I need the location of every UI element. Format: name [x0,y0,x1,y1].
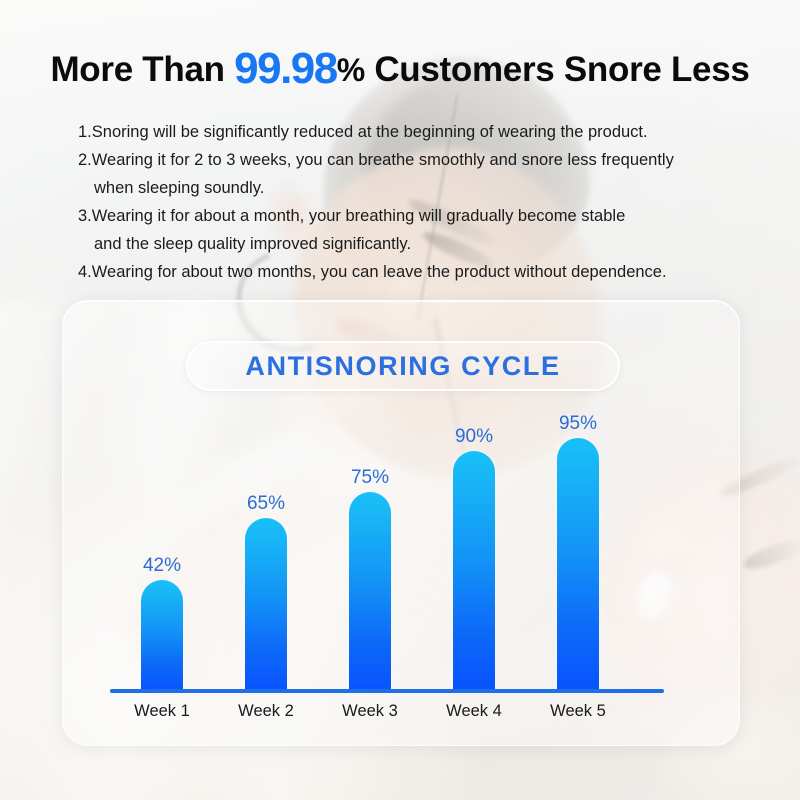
bar [557,438,599,692]
page-title: More Than 99.98% Customers Snore Less [0,44,800,94]
bar [245,518,287,692]
chart-title-pill: ANTISNORING CYCLE [186,341,620,391]
list-item: 1.Snoring will be significantly reduced … [78,118,758,146]
bar-value-label: 90% [455,427,493,446]
chart-x-axis-labels: Week 1Week 2Week 3Week 4Week 5 [110,702,664,721]
chart-plot-area: 42%65%75%90%95% [110,400,664,692]
chart-title: ANTISNORING CYCLE [245,351,560,382]
list-item: 3.Wearing it for about a month, your bre… [78,202,758,230]
bar-group-1: 42% [110,400,214,692]
list-item: 4.Wearing for about two months, you can … [78,258,758,286]
bar [453,451,495,692]
x-axis-label: Week 4 [422,702,526,721]
bar [141,580,183,692]
headline-prefix: More Than [50,50,234,89]
headline-highlight-value: 99.98 [234,44,337,93]
bar-group-4: 90% [422,400,526,692]
bar-group-3: 75% [318,400,422,692]
x-axis-label: Week 5 [526,702,630,721]
antisnoring-cycle-chart: 42%65%75%90%95% Week 1Week 2Week 3Week 4… [110,400,670,730]
bar-group-2: 65% [214,400,318,692]
bar-value-label: 42% [143,556,181,575]
bar-group-5: 95% [526,400,630,692]
bar [349,492,391,692]
list-item: 2.Wearing it for 2 to 3 weeks, you can b… [78,146,758,174]
x-axis-label: Week 1 [110,702,214,721]
x-axis-label: Week 3 [318,702,422,721]
list-item-continuation: when sleeping soundly. [78,174,758,202]
bar-value-label: 75% [351,468,389,487]
chart-baseline-axis [110,689,664,693]
benefit-list: 1.Snoring will be significantly reduced … [78,118,758,286]
headline-suffix: Customers Snore Less [365,50,750,89]
x-axis-label: Week 2 [214,702,318,721]
headline-percent-sign: % [337,52,365,88]
bar-value-label: 65% [247,494,285,513]
bar-value-label: 95% [559,414,597,433]
list-item-continuation: and the sleep quality improved significa… [78,230,758,258]
